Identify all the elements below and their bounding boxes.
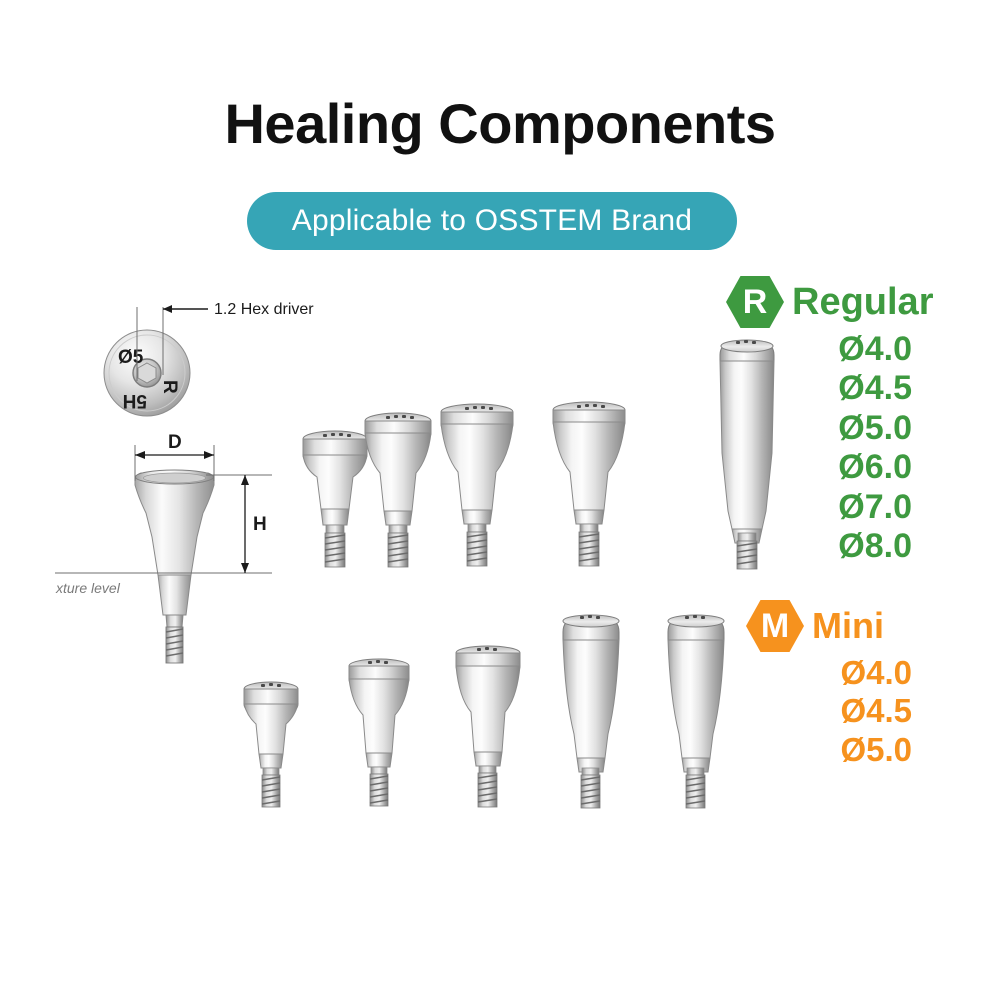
regular-size-item: Ø4.0 [838, 330, 912, 369]
fixture-level-label: xture level [55, 580, 121, 596]
mini-abutment-3 [440, 640, 536, 812]
screw-threads [579, 532, 599, 566]
screw-threads [262, 775, 280, 807]
height-label: H [253, 514, 267, 535]
regular-size-item: Ø6.0 [838, 448, 912, 487]
side-view-group [135, 470, 214, 663]
mini-abutment-2 [333, 653, 425, 811]
legend-regular-head: R Regular [726, 276, 933, 328]
mini-hex-letter: M [761, 609, 789, 643]
mini-abutment-1 [228, 676, 314, 812]
regular-abutment-4 [537, 396, 641, 570]
mini-size-list: Ø4.0 Ø4.5 Ø5.0 [746, 654, 922, 769]
infographic-page: Healing Components Applicable to OSSTEM … [0, 0, 1000, 1000]
regular-abutment-3 [425, 398, 529, 570]
mini-size-item: Ø4.5 [840, 692, 912, 730]
regular-size-item: Ø4.5 [838, 369, 912, 408]
screw-threads [325, 533, 345, 567]
mini-abutment-5 [648, 608, 744, 813]
mini-abutment-4 [543, 608, 639, 813]
regular-size-item: Ø5.0 [838, 409, 912, 448]
screw-threads [686, 775, 705, 808]
hex-driver-label: 1.2 Hex driver [214, 301, 314, 318]
applicability-badge-label: Applicable to OSSTEM Brand [292, 204, 692, 238]
side-view-screw-threads [166, 627, 183, 663]
mini-size-item: Ø4.0 [840, 654, 912, 692]
legend-regular: R Regular Ø4.0 Ø4.5 Ø5.0 Ø6.0 Ø7.0 Ø8.0 [726, 276, 933, 567]
page-title: Healing Components [0, 96, 1000, 152]
regular-hex-letter: R [743, 285, 768, 319]
regular-size-item: Ø8.0 [838, 527, 912, 566]
legend-mini-title: Mini [812, 608, 884, 644]
legend-regular-title: Regular [792, 283, 933, 321]
screw-threads [370, 774, 388, 806]
mini-hex-icon: M [746, 600, 804, 652]
regular-size-list: Ø4.0 Ø4.5 Ø5.0 Ø6.0 Ø7.0 Ø8.0 [726, 330, 922, 567]
top-view-height-mark: 5H [123, 390, 147, 411]
top-view-diameter-mark: Ø5 [118, 347, 144, 368]
applicability-badge: Applicable to OSSTEM Brand [247, 192, 737, 250]
legend-mini-head: M Mini [746, 600, 922, 652]
screw-threads [467, 532, 487, 566]
screw-threads [478, 773, 497, 807]
legend-mini: M Mini Ø4.0 Ø4.5 Ø5.0 [746, 600, 922, 769]
top-view-series-mark: R [159, 380, 180, 394]
regular-size-item: Ø7.0 [838, 488, 912, 527]
regular-hex-icon: R [726, 276, 784, 328]
diameter-label: D [168, 432, 182, 453]
screw-threads [581, 775, 600, 808]
mini-size-item: Ø5.0 [840, 731, 912, 769]
screw-threads [388, 533, 408, 567]
